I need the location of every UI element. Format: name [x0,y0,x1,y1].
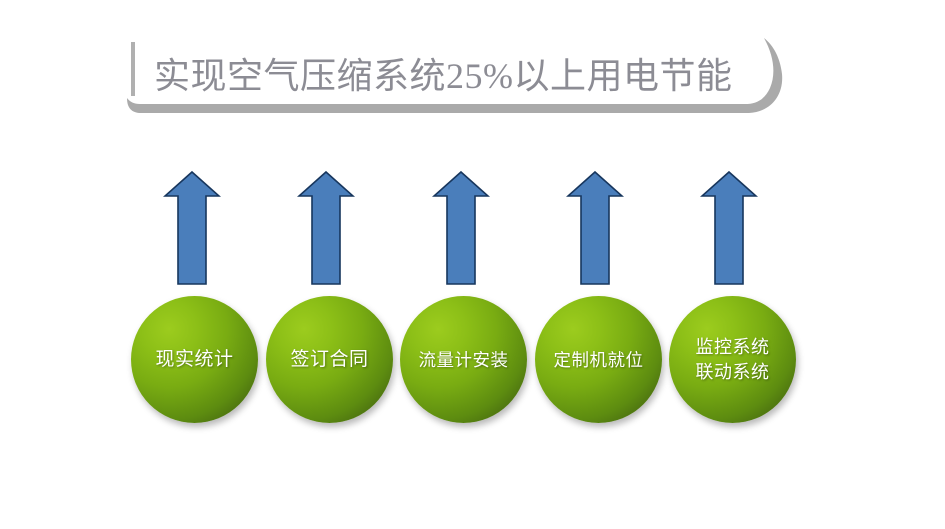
process-step-label-1: 现实统计 [151,348,237,372]
arrow-up-icon-2 [297,170,355,286]
arrow-up-icon-4 [566,170,624,286]
process-step-circle-5[interactable]: 监控系统 联动系统 [669,296,796,423]
process-step-row: 现实统计 签订合同 流量计安装 定制机就位 监控系统 联动系统 [0,296,945,428]
arrow-up-icon-1 [163,170,221,286]
arrow-up-icon-5 [700,170,758,286]
process-step-circle-4[interactable]: 定制机就位 [535,296,662,423]
process-step-circle-2[interactable]: 签订合同 [266,296,393,423]
process-step-label-5: 监控系统 联动系统 [692,335,774,385]
title-banner: 实现空气压缩系统25%以上用电节能 [124,34,784,146]
slide-canvas: 实现空气压缩系统25%以上用电节能 [0,0,945,529]
arrow-row [0,170,945,288]
process-step-circle-3[interactable]: 流量计安装 [400,296,527,423]
arrow-up-icon-3 [432,170,490,286]
process-step-circle-1[interactable]: 现实统计 [131,296,258,423]
process-step-label-3: 流量计安装 [415,348,513,372]
page-title: 实现空气压缩系统25%以上用电节能 [154,48,734,104]
process-step-label-4: 定制机就位 [550,348,648,372]
process-step-label-2: 签订合同 [286,348,372,372]
